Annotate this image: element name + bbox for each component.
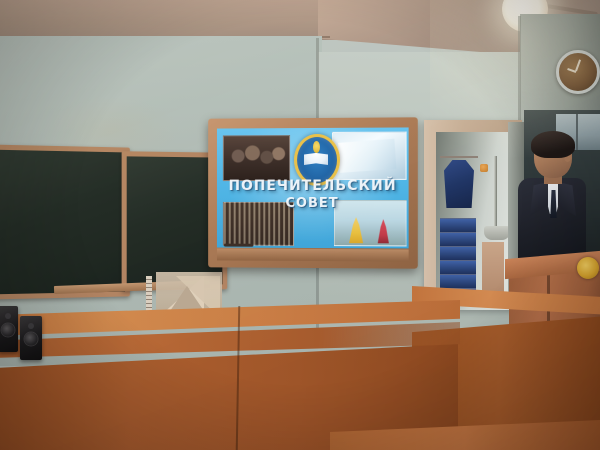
storage-crate [440, 232, 476, 246]
dancer-figure-red [377, 219, 389, 243]
speaker-tweeter [28, 323, 34, 329]
water-pipe [494, 156, 497, 236]
speaker-tweeter [5, 313, 11, 319]
desk-row-front [0, 300, 460, 450]
speaker-cone [2, 323, 15, 336]
whiteboard-screen[interactable]: ПОПЕЧИТЕЛЬСКИЙ СОВЕТ [217, 127, 409, 248]
wall-clock-icon [556, 50, 600, 94]
photo-crowd-top-left [223, 135, 290, 181]
hair [531, 131, 575, 158]
marker-pen-icon[interactable] [224, 244, 254, 247]
gold-crest-emblem-icon [577, 257, 599, 279]
storage-crate [440, 260, 476, 274]
wall-socket-icon [480, 164, 488, 172]
whiteboard-pen-tray [217, 249, 409, 262]
alcove-doorway[interactable] [436, 132, 510, 310]
chalkboard-left [0, 144, 130, 299]
desktop-speaker-right [20, 316, 42, 360]
storage-crate [440, 218, 476, 232]
photo-document-top-right [332, 131, 407, 179]
coat-rod [440, 156, 478, 158]
classroom-photo-scene: ПОПЕЧИТЕЛЬСКИЙ СОВЕТ [0, 0, 600, 450]
hanging-jacket-icon [444, 160, 474, 208]
storage-crate [440, 246, 476, 260]
speaker-cone [25, 332, 38, 345]
slide-title-line1: ПОПЕЧИТЕЛЬСКИЙ [217, 178, 409, 194]
slide-title-line2: СОВЕТ [217, 196, 409, 211]
desktop-speaker-left [0, 306, 18, 352]
dancer-figure-yellow [349, 217, 363, 243]
interactive-whiteboard[interactable]: ПОПЕЧИТЕЛЬСКИЙ СОВЕТ [208, 117, 418, 268]
wash-basin-icon [484, 226, 510, 240]
